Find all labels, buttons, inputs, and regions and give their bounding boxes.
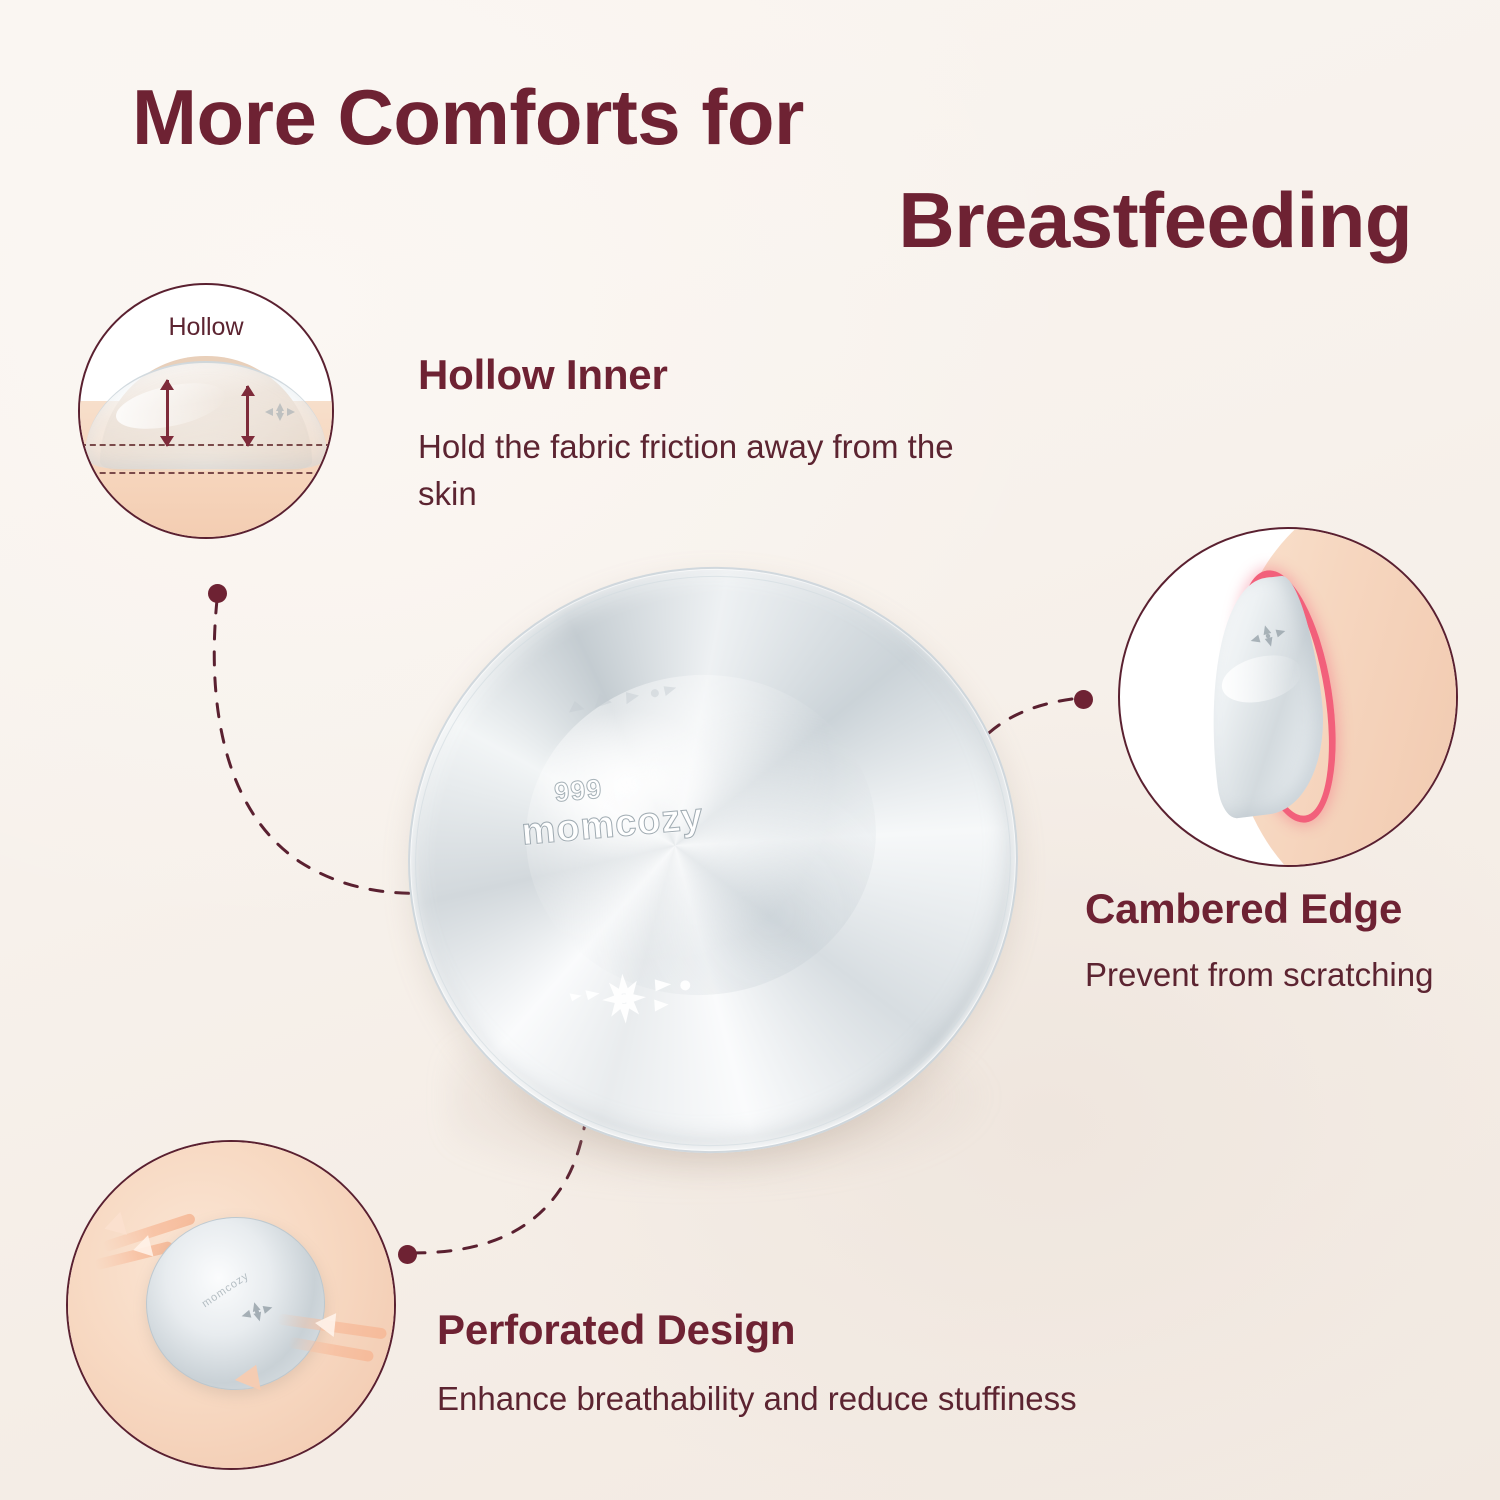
connector-dot-cambered (1074, 690, 1093, 709)
page-title: More Comforts for Breastfeeding (0, 66, 1430, 272)
airflow-arrow (314, 1311, 336, 1337)
feature-title-cambered-edge: Cambered Edge (1085, 885, 1402, 933)
headline-line-2: Breastfeeding (0, 169, 1430, 272)
hollow-inset-label: Hollow (80, 313, 332, 342)
cross-section-hollow-inset: Hollow (78, 283, 334, 539)
perforation-icon (238, 1297, 277, 1328)
connector-dot-hollow (208, 584, 227, 603)
headline-line-1: More Comforts for (0, 66, 1430, 169)
feature-desc-hollow-inner: Hold the fabric friction away from the s… (418, 424, 1018, 518)
feature-desc-perforated-design: Enhance breathability and reduce stuffin… (437, 1376, 1397, 1423)
hollow-gap-arrow-left (166, 380, 169, 446)
perforation-icon (263, 401, 297, 423)
perforated-design-inset: momcozy (66, 1140, 396, 1470)
feature-title-hollow-inner: Hollow Inner (418, 351, 668, 399)
product-image-nipple-shield: 999 momcozy (408, 567, 1018, 1167)
connector-dot-perforated (398, 1245, 417, 1264)
measure-line-lower (80, 472, 332, 474)
perforation-pattern-icon (566, 963, 700, 1034)
feature-desc-cambered-edge: Prevent from scratching (1085, 952, 1465, 999)
cambered-edge-inset (1118, 527, 1458, 867)
hollow-gap-arrow-right (246, 386, 249, 446)
measure-line-upper (80, 444, 332, 446)
infographic-canvas: More Comforts for Breastfeeding Hollow (0, 0, 1500, 1500)
feature-title-perforated-design: Perforated Design (437, 1306, 795, 1354)
